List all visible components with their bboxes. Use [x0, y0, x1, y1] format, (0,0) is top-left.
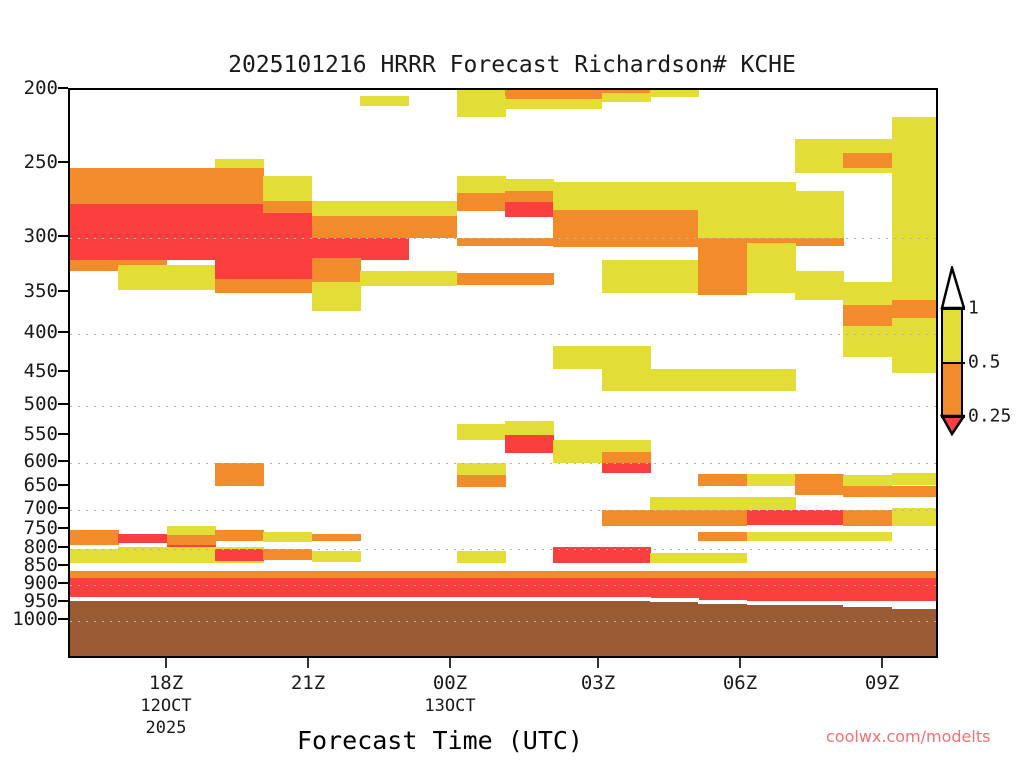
colorbar-label: 1: [968, 298, 979, 319]
chart-page: 2025101216 HRRR Forecast Richardson# KCH…: [0, 0, 1024, 768]
colorbar: [941, 308, 963, 468]
x-tick-mark: [597, 658, 599, 668]
x-tick-mark: [739, 658, 741, 668]
x-tick-mark: [165, 658, 167, 668]
x-tick-label: 03Z: [581, 672, 615, 694]
x-axis-title: Forecast Time (UTC): [0, 726, 880, 755]
x-tick-mark: [449, 658, 451, 668]
x-tick-sublabel: 13OCT: [424, 696, 475, 716]
colorbar-label: 0.5: [968, 352, 1001, 373]
x-tick-label: 06Z: [723, 672, 757, 694]
x-axis: 18Z21Z00Z03Z06Z09Z12OCT202513OCT: [0, 0, 1024, 768]
colorbar-arrows: [939, 266, 965, 436]
colorbar-tick: [941, 362, 965, 364]
watermark: coolwx.com/modelts: [826, 727, 990, 746]
x-tick-label: 00Z: [433, 672, 467, 694]
x-tick-sublabel: 12OCT: [140, 696, 191, 716]
x-tick-label: 18Z: [149, 672, 183, 694]
colorbar-tick: [941, 416, 965, 418]
colorbar-label: 0.25: [968, 406, 1011, 427]
x-tick-label: 21Z: [291, 672, 325, 694]
x-tick-mark: [307, 658, 309, 668]
colorbar-tick: [941, 308, 965, 310]
x-tick-label: 09Z: [865, 672, 899, 694]
x-tick-mark: [881, 658, 883, 668]
